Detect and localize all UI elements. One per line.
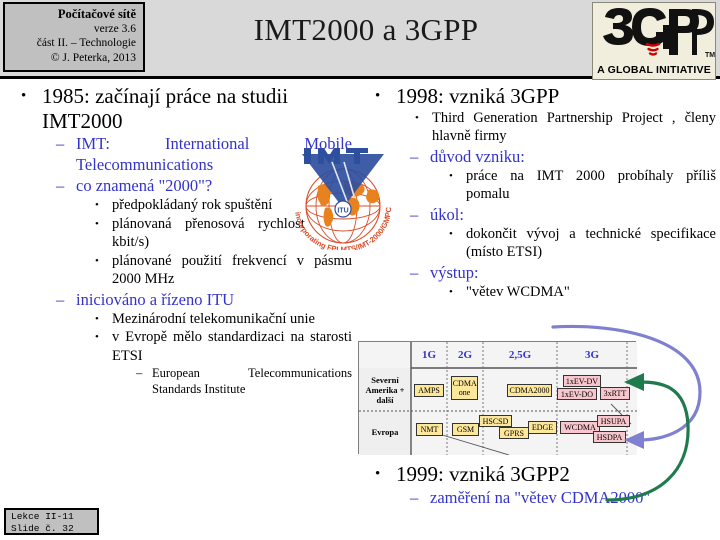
table-cell-cdma2000: CDMA2000 [507,384,552,397]
list-item: Mezinárodní telekomunikační unie [76,310,352,329]
table-cell-3xrtt: 3xRTT [600,387,630,400]
course-copyright: © J. Peterka, 2013 [8,51,136,66]
right-bullet-list-vystup: "větev WCDMA" [430,283,716,302]
bullet-3gpp-expansion: Third Generation Partnership Project , č… [432,109,716,146]
table-cell-amps: AMPS [414,384,444,397]
table-row-label-europe: Evropa [361,427,409,437]
3gpp-logo-mark: TM [593,3,716,67]
slide-footer-box: Lekce II-11 Slide č. 32 [4,508,99,535]
list-item: Third Generation Partnership Project , č… [396,109,716,146]
table-cell-1xev-dv: 1xEV-DV [563,375,601,387]
table-cell-cdma-one: CDMA one [451,376,478,400]
right-content-column: 1998: vzniká 3GPP Third Generation Partn… [368,84,716,301]
course-part: část II. – Technologie [8,36,136,51]
left-bullet-list-level3-b: Mezinárodní telekomunikační unie v Evrop… [76,310,352,398]
bullet-vystup: výstup: [430,262,716,283]
table-cell-nmt: NMT [416,423,443,436]
right-content-column-lower: 1999: vzniká 3GPP2 zaměření na "větev CD… [368,462,716,509]
bullet-1998-text: 1998: vzniká 3GPP [396,84,716,109]
bullet-evropa-etsi: v Evropě mělo standardizaci na starosti … [112,328,352,365]
table-cell-gprs: GPRS [499,427,529,439]
list-item: dokončit vývoj a technické specifikace (… [430,225,716,262]
right-bullet-list-level2: důvod vzniku: práce na IMT 2000 probíhal… [396,146,716,302]
table-header-1g: 1G [411,349,447,361]
table-cell-1xev-do: 1xEV-DO [557,388,597,400]
table-cell-hsupa: HSUPA [597,415,630,427]
bullet-etsi-expansion: European Telecommunications Standards In… [152,365,352,397]
list-item: "větev WCDMA" [430,283,716,302]
bullet-mezinarodni-unie: Mezinárodní telekomunikační unie [112,310,352,329]
list-item: výstup: "větev WCDMA" [396,262,716,302]
3gpp-logo: TM A GLOBAL INITIATIVE [592,2,716,80]
bullet-prace-pomalu: práce na IMT 2000 probíhaly příliš pomal… [466,167,716,204]
list-item: plánované použití frekvencí v pásmu 2000… [76,252,352,289]
table-row-label-north-america: Severní Amerika + další [361,375,409,405]
bullet-1985-text: 1985: začínají práce na studii IMT2000 [42,84,352,133]
table-cell-edge: EDGE [528,421,557,434]
bullet-ukol: úkol: [430,204,716,225]
bullet-iniciovano-itu: iniciováno a řízeno ITU [76,289,352,310]
list-item: 1999: vzniká 3GPP2 zaměření na "větev CD… [368,462,716,508]
course-version: verze 3.6 [8,22,136,37]
table-cell-gsm: GSM [452,423,479,436]
table-header-3g: 3G [557,349,627,361]
mobile-generations-table: 1G 2G 2,5G 3G Severní Amerika + další Ev… [358,341,636,454]
3gpp-tm-mark: TM [705,52,715,59]
3gpp-logo-tagline: A GLOBAL INITIATIVE [593,64,715,76]
list-item: důvod vzniku: práce na IMT 2000 probíhal… [396,146,716,204]
footer-lecture: Lekce II-11 [11,511,97,523]
bullet-zamereni-cdma2000: zaměření na "větev CDMA2000" [430,487,716,508]
list-item: European Telecommunications Standards In… [112,365,352,397]
page-title: IMT2000 a 3GPP [150,10,582,50]
list-item: úkol: dokončit vývoj a technické specifi… [396,204,716,262]
right-bullet-list-1999: 1999: vzniká 3GPP2 zaměření na "větev CD… [368,462,716,508]
table-header-25g: 2,5G [483,349,557,361]
right-bullet-list-3gpp-expansion: Third Generation Partnership Project , č… [396,109,716,146]
table-header-2g: 2G [447,349,483,361]
right-bullet-list-level1: 1998: vzniká 3GPP Third Generation Partn… [368,84,716,301]
right-bullet-list-ukol: dokončit vývoj a technické specifikace (… [430,225,716,262]
svg-text:ITU: ITU [337,208,348,215]
course-info-box: Počítačové sítě verze 3.6 část II. – Tec… [3,2,145,72]
table-cell-hsdpa: HSDPA [593,431,626,443]
list-item: práce na IMT 2000 probíhaly příliš pomal… [430,167,716,204]
bullet-pouziti-frekvenci: plánované použití frekvencí v pásmu 2000… [112,252,352,289]
list-item: iniciováno a řízeno ITU Mezinárodní tele… [42,289,352,398]
table-cell-hscsd: HSCSD [479,415,512,427]
bullet-dokoncit-vyvoj: dokončit vývoj a technické specifikace (… [466,225,716,262]
list-item: 1998: vzniká 3GPP Third Generation Partn… [368,84,716,301]
right-bullet-list-duvod: práce na IMT 2000 probíhaly příliš pomal… [430,167,716,204]
footer-slide-number: Slide č. 32 [11,523,97,535]
list-item: v Evropě mělo standardizaci na starosti … [76,328,352,397]
list-item: zaměření na "větev CDMA2000" [396,487,716,508]
bullet-vetev-wcdma: "větev WCDMA" [466,283,716,302]
right-bullet-list-1999-sub: zaměření na "větev CDMA2000" [396,487,716,508]
left-bullet-list-level4: European Telecommunications Standards In… [112,365,352,397]
bullet-1999-text: 1999: vzniká 3GPP2 [396,462,716,487]
bullet-duvod-vzniku: důvod vzniku: [430,146,716,167]
course-title: Počítačové sítě [8,7,136,22]
